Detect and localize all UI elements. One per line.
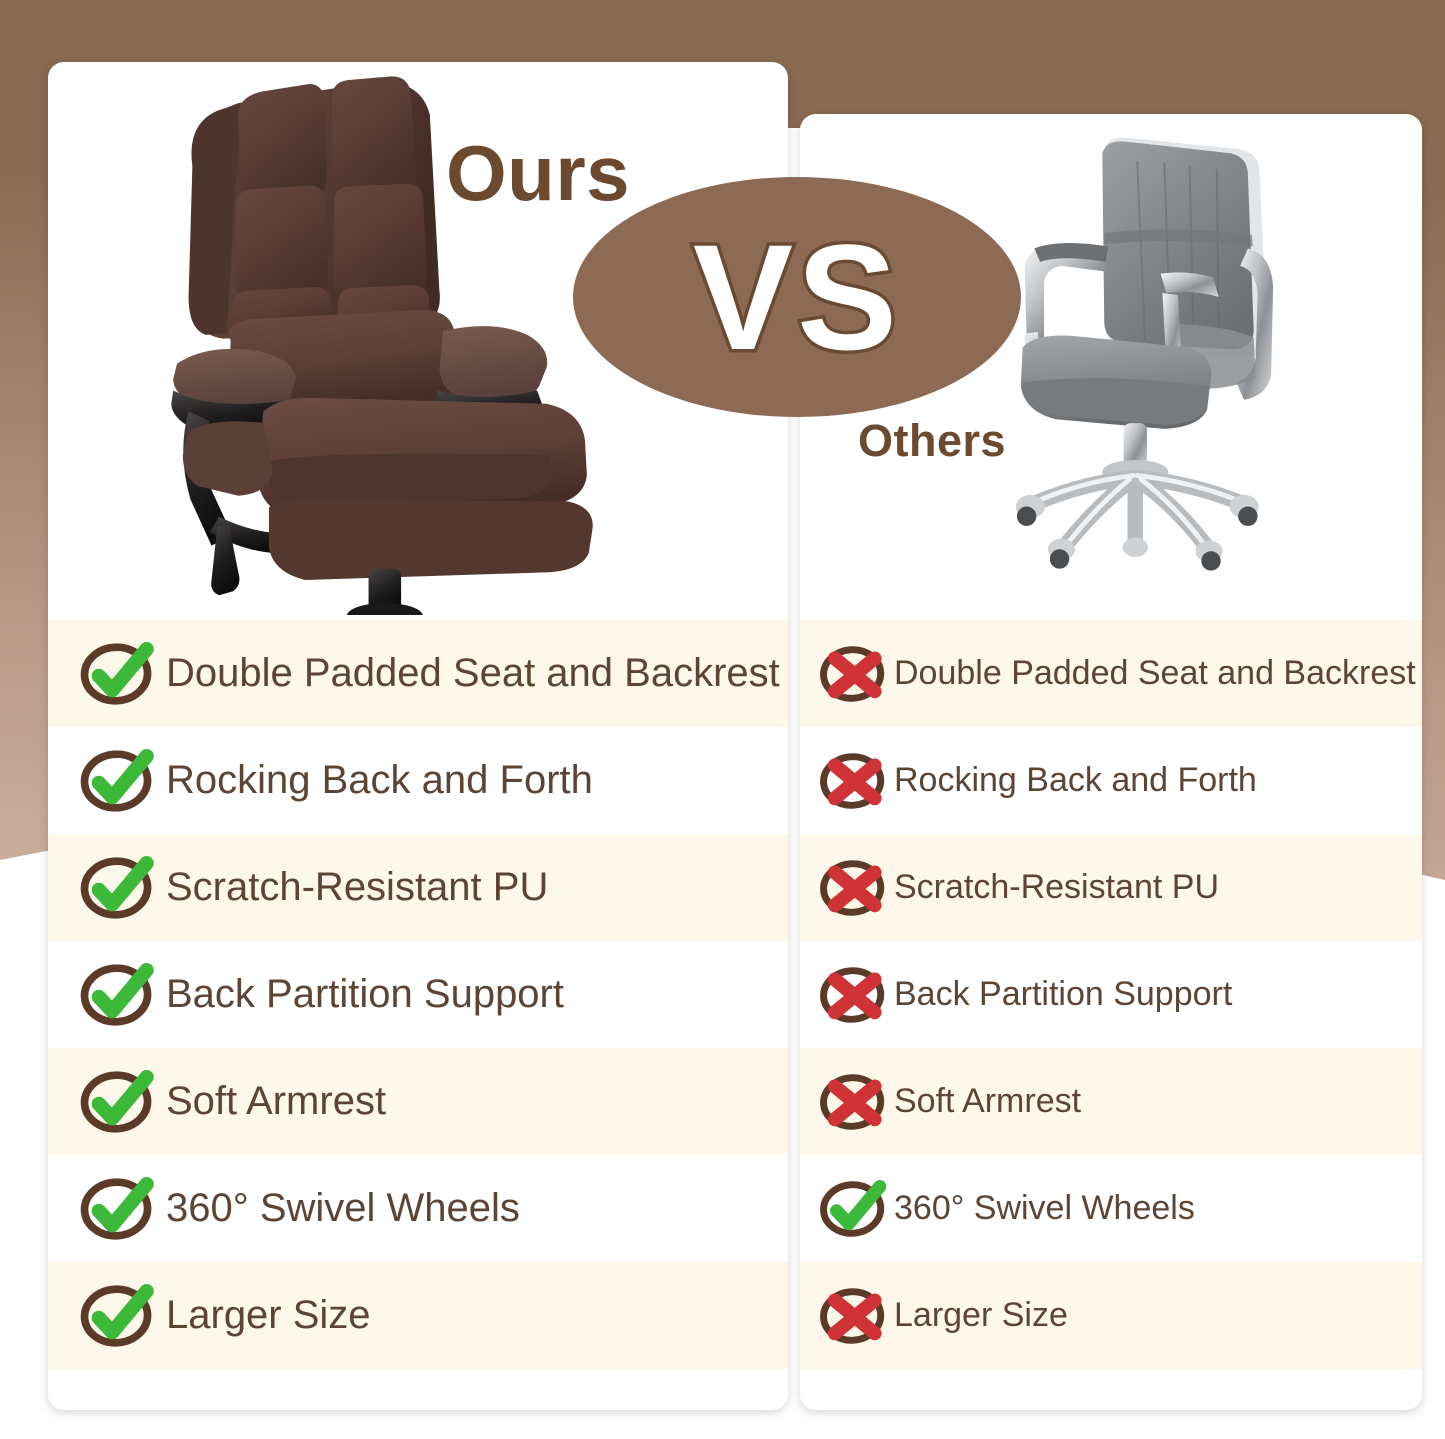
- feature-row: Larger Size: [800, 1262, 1422, 1369]
- feature-label: Larger Size: [894, 1296, 1068, 1335]
- check-icon: [74, 1065, 160, 1139]
- check-icon: [74, 958, 160, 1032]
- feature-row: Scratch-Resistant PU: [800, 834, 1422, 941]
- cross-icon: [814, 1281, 892, 1351]
- check-icon: [74, 744, 160, 818]
- feature-label: Double Padded Seat and Backrest: [894, 654, 1416, 693]
- brown-chair-image: [156, 70, 606, 615]
- feature-row: Scratch-Resistant PU: [48, 834, 788, 941]
- feature-label: Rocking Back and Forth: [894, 761, 1257, 800]
- check-icon: [74, 744, 160, 818]
- feature-row: Soft Armrest: [800, 1048, 1422, 1155]
- vs-badge-icon: VS: [573, 177, 1021, 417]
- feature-label: Double Padded Seat and Backrest: [166, 651, 780, 696]
- feature-row: Soft Armrest: [48, 1048, 788, 1155]
- feature-label: 360° Swivel Wheels: [894, 1189, 1195, 1228]
- feature-label: Soft Armrest: [166, 1079, 386, 1124]
- check-icon: [74, 1279, 160, 1353]
- check-icon: [74, 958, 160, 1032]
- feature-label: Rocking Back and Forth: [166, 758, 593, 803]
- comparison-infographic: Ours: [0, 0, 1445, 1439]
- others-panel-footer: [800, 1369, 1422, 1410]
- cross-icon: [814, 960, 892, 1030]
- ours-panel-footer: [48, 1369, 788, 1410]
- check-icon: [814, 1174, 892, 1244]
- feature-label: Scratch-Resistant PU: [894, 868, 1219, 907]
- feature-row: 360° Swivel Wheels: [48, 1155, 788, 1262]
- check-icon: [814, 1174, 892, 1244]
- cross-icon: [814, 639, 892, 709]
- feature-row: Back Partition Support: [48, 941, 788, 1048]
- cross-icon: [814, 1067, 892, 1137]
- feature-row: Larger Size: [48, 1262, 788, 1369]
- feature-row: 360° Swivel Wheels: [800, 1155, 1422, 1262]
- check-icon: [74, 637, 160, 711]
- cross-icon: [814, 746, 892, 816]
- feature-row: Double Padded Seat and Backrest: [48, 620, 788, 727]
- feature-label: Back Partition Support: [166, 972, 564, 1017]
- check-icon: [74, 1172, 160, 1246]
- check-icon: [74, 637, 160, 711]
- cross-icon: [814, 853, 892, 923]
- feature-label: Back Partition Support: [894, 975, 1232, 1014]
- check-icon: [74, 1279, 160, 1353]
- check-icon: [74, 851, 160, 925]
- feature-row: Rocking Back and Forth: [48, 727, 788, 834]
- check-icon: [74, 851, 160, 925]
- cross-icon: [814, 853, 892, 923]
- feature-label: Scratch-Resistant PU: [166, 865, 548, 910]
- ours-feature-list: Double Padded Seat and BackrestRocking B…: [48, 620, 788, 1369]
- feature-label: Soft Armrest: [894, 1082, 1081, 1121]
- feature-row: Double Padded Seat and Backrest: [800, 620, 1422, 727]
- feature-row: Rocking Back and Forth: [800, 727, 1422, 834]
- feature-label: 360° Swivel Wheels: [166, 1186, 520, 1231]
- cross-icon: [814, 960, 892, 1030]
- vs-badge-label: VS: [693, 222, 901, 372]
- cross-icon: [814, 1281, 892, 1351]
- cross-icon: [814, 746, 892, 816]
- feature-label: Larger Size: [166, 1293, 371, 1338]
- feature-row: Back Partition Support: [800, 941, 1422, 1048]
- gray-chair-image: [980, 130, 1310, 590]
- check-icon: [74, 1065, 160, 1139]
- others-feature-list: Double Padded Seat and BackrestRocking B…: [800, 620, 1422, 1369]
- cross-icon: [814, 639, 892, 709]
- check-icon: [74, 1172, 160, 1246]
- cross-icon: [814, 1067, 892, 1137]
